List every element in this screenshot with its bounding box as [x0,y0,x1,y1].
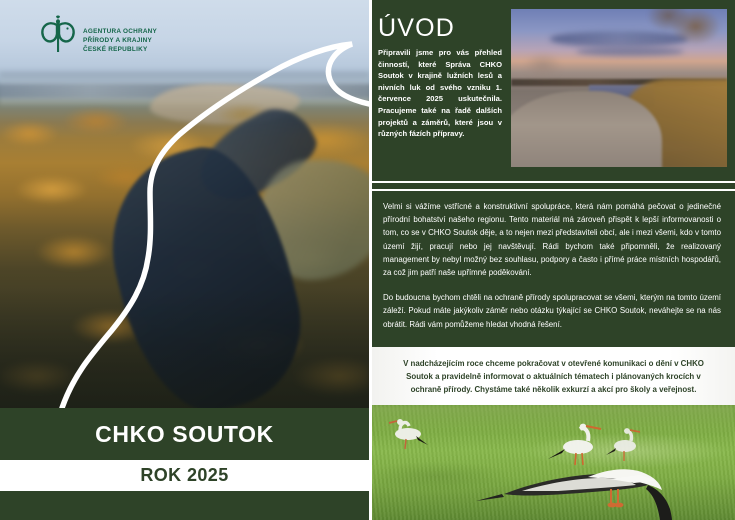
stork-in-flight [476,469,672,520]
logo-line-3: ČESKÉ REPUBLIKY [83,45,157,54]
body-text-block: Velmi si vážíme vstřícné a konstruktivní… [383,200,721,331]
logo-line-1: AGENTURA OCHRANY [83,27,157,36]
photo-tree-left [515,44,571,88]
cover-year-band: ROK 2025 [0,460,369,491]
left-bottom-band [0,491,369,520]
right-panel: ÚVOD Připravili jsme pro vás přehled čin… [369,0,735,520]
callout-box: V nadcházejícím roce chceme pokračovat v… [372,347,735,405]
stork-standing-middle [548,424,601,465]
intro-body: Připravili jsme pro vás přehled činností… [378,47,502,140]
body-paragraph-1: Velmi si vážíme vstřícné a konstruktivní… [383,200,721,279]
year-label: ROK 2025 [140,465,228,486]
divider-rule-top [372,181,735,183]
divider-rule-bottom [372,189,735,191]
body-paragraph-2: Do budoucna bychom chtěli na ochraně pří… [383,291,721,331]
aopk-logo-text: AGENTURA OCHRANY PŘÍRODY A KRAJINY ČESKÉ… [83,13,157,54]
aopk-logo: AGENTURA OCHRANY PŘÍRODY A KRAJINY ČESKÉ… [38,12,157,54]
cover-title-band: CHKO SOUTOK [0,408,369,460]
stork-standing-right [606,428,640,461]
stork-standing-left [389,419,428,449]
logo-line-2: PŘÍRODY A KRAJINY [83,36,157,45]
page-title: CHKO SOUTOK [95,421,274,448]
left-panel: AGENTURA OCHRANY PŘÍRODY A KRAJINY ČESKÉ… [0,0,369,520]
photo-dirt-track [511,91,662,167]
floodplain-path-sunset-photo [511,9,727,167]
white-storks-meadow-photo [372,405,735,520]
intro-heading: ÚVOD [378,14,502,42]
photo-tree-right [632,9,723,88]
callout-inner: V nadcházejícím roce chceme pokračovat v… [395,357,713,396]
intro-section: ÚVOD Připravili jsme pro vás přehled čin… [369,0,735,180]
aerial-autumn-river-landscape-photo [0,0,369,408]
storks-figures [372,405,735,520]
photo-bottom-shade [0,288,369,408]
report-page: AGENTURA OCHRANY PŘÍRODY A KRAJINY ČESKÉ… [0,0,735,520]
intro-text-column: ÚVOD Připravili jsme pro vás přehled čin… [378,14,502,140]
aopk-leaf-logo-icon [38,12,78,54]
callout-text: V nadcházejícím roce chceme pokračovat v… [395,357,713,396]
